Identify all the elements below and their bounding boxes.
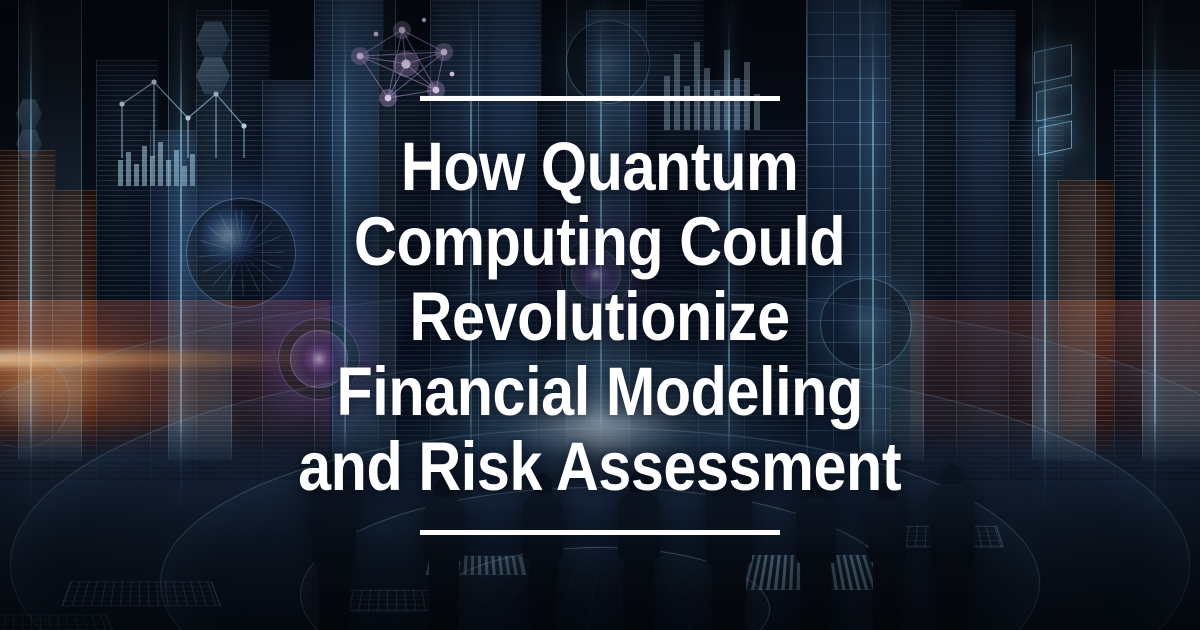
rule-bottom — [420, 530, 780, 535]
page-title: How Quantum Computing Could Revolutioniz… — [298, 129, 901, 504]
social-card: How Quantum Computing Could Revolutioniz… — [0, 0, 1200, 630]
title-overlay: How Quantum Computing Could Revolutioniz… — [0, 0, 1200, 630]
rule-top — [420, 96, 780, 101]
